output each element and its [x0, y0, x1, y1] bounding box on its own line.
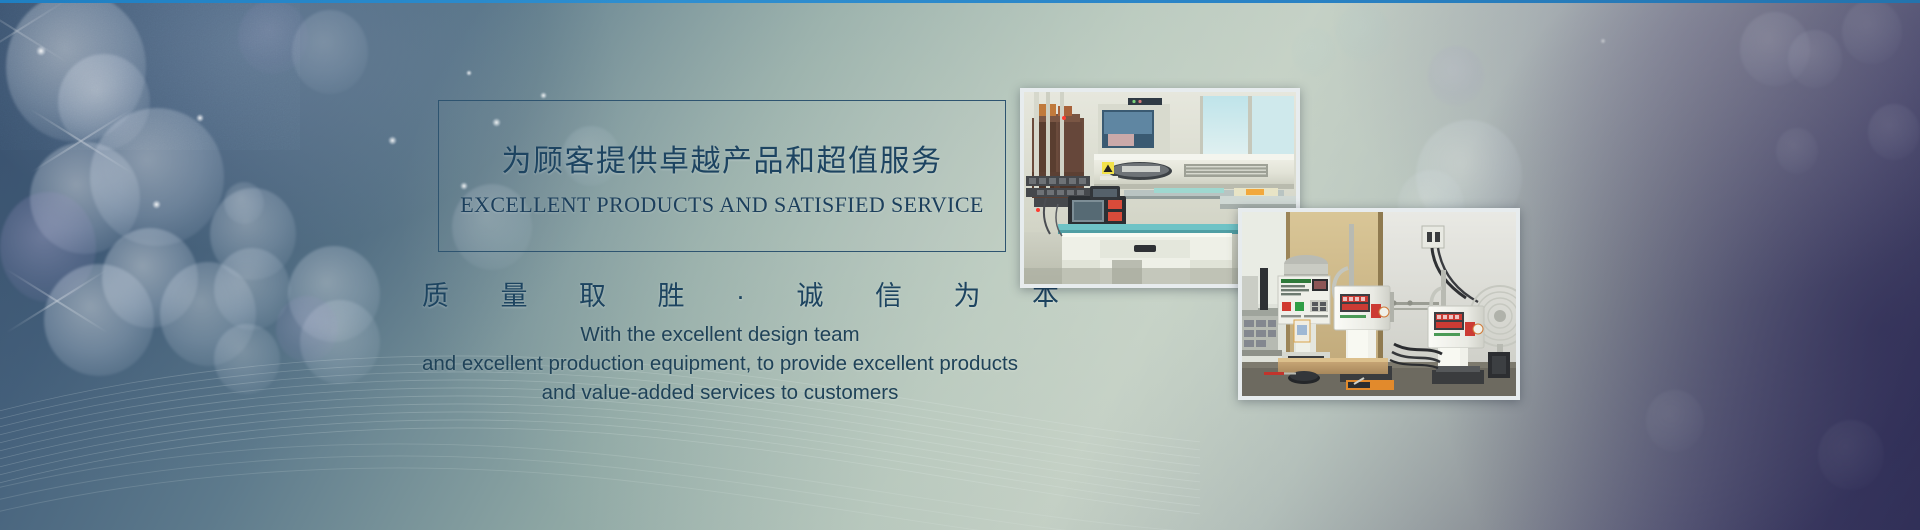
top-accent-rule	[0, 0, 1920, 3]
promo-banner: 为顾客提供卓越产品和超值服务 EXCELLENT PRODUCTS AND SA…	[0, 0, 1920, 530]
photo-machine-scene	[1242, 212, 1516, 396]
photo-machine[interactable]	[1238, 208, 1520, 400]
photo-collage	[0, 0, 1920, 530]
